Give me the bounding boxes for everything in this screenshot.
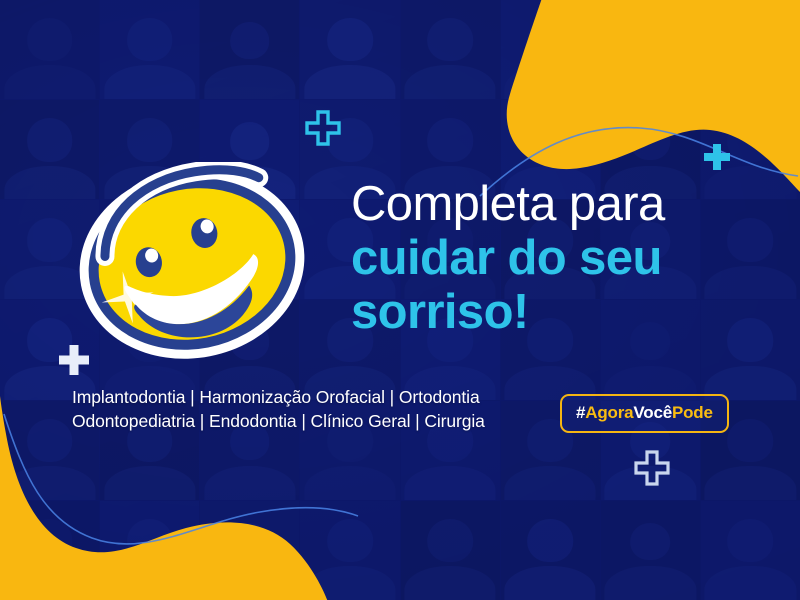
thin-blue-curve-top: [470, 0, 800, 200]
services-row-2: Odontopediatria | Endodontia | Clínico G…: [72, 410, 552, 434]
services-row-1: Implantodontia | Harmonização Orofacial …: [72, 386, 552, 410]
hashtag-symbol: #: [576, 403, 585, 422]
services-list: Implantodontia | Harmonização Orofacial …: [72, 386, 552, 433]
promotional-banner: Completa para cuidar do seu sorriso! Imp…: [0, 0, 800, 600]
headline-line-1: Completa para: [351, 180, 771, 228]
headline-line-3: sorriso!: [351, 288, 771, 336]
hashtag-badge: #AgoraVocêPode: [560, 394, 729, 433]
hashtag-word-agora: Agora: [585, 403, 633, 422]
headline: Completa para cuidar do seu sorriso!: [351, 180, 771, 336]
plus-icon-cyan-outline-upper: [305, 110, 341, 146]
plus-icon-cyan-solid-right: [703, 143, 731, 171]
smiley-face-logo: [72, 162, 312, 367]
plus-icon-white-outline-bottom: [634, 450, 670, 486]
hashtag-word-voce: Você: [633, 403, 672, 422]
headline-line-2: cuidar do seu: [351, 234, 771, 282]
hashtag-word-pode: Pode: [672, 403, 713, 422]
